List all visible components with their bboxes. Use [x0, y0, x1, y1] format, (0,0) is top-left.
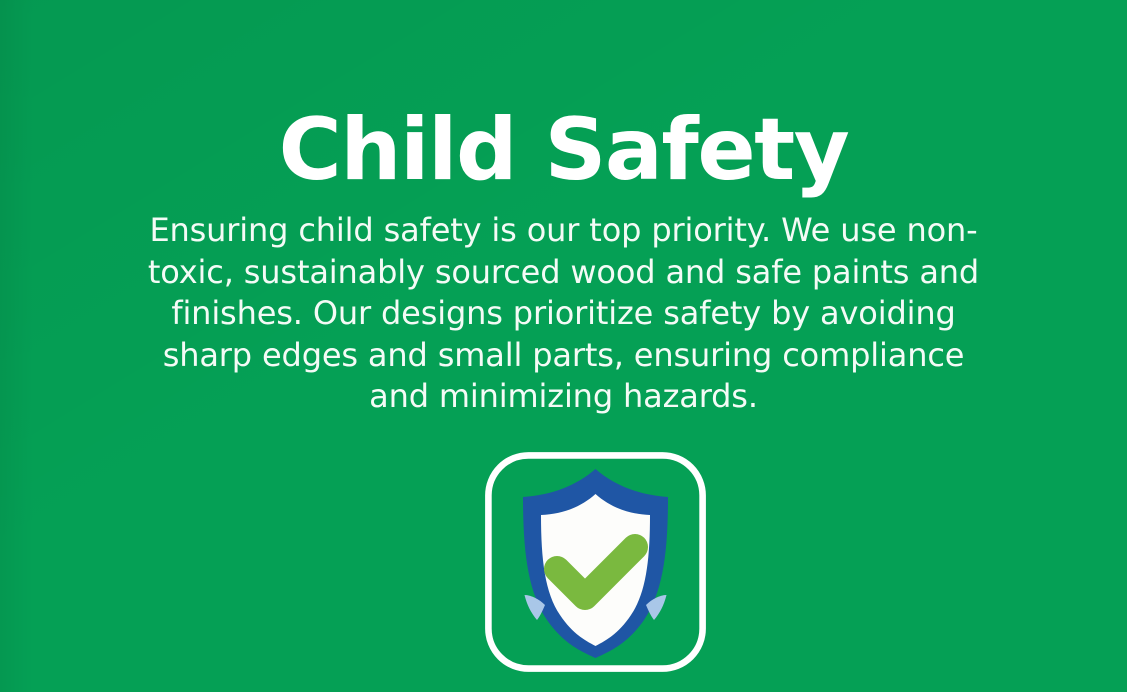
shield-check-icon: [485, 452, 706, 672]
section-description: Ensuring child safety is our top priorit…: [129, 210, 999, 418]
child-safety-section: Child Safety Ensuring child safety is ou…: [0, 0, 1127, 692]
page-title: Child Safety: [0, 104, 1127, 197]
